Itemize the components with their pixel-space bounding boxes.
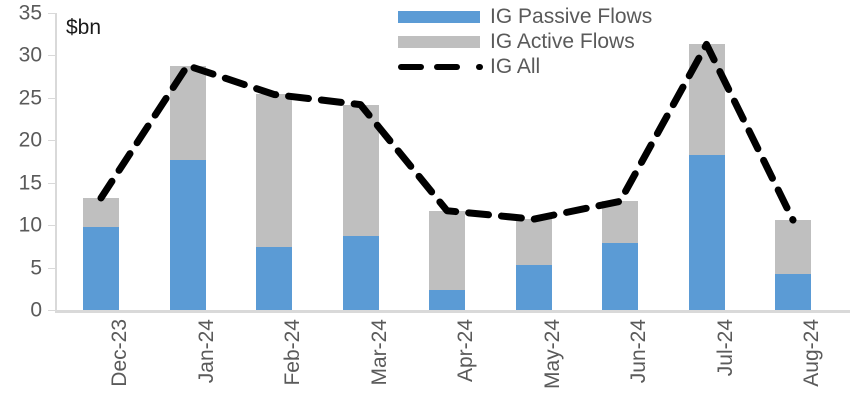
y-tick-label: 15	[0, 172, 42, 193]
chart-container: 35302520151050 $bn IG Passive FlowsIG Ac…	[0, 0, 852, 417]
bar-segment-passive[interactable]	[689, 155, 725, 310]
dash-segment	[434, 64, 460, 70]
bar-group[interactable]	[775, 13, 811, 310]
bar-segment-passive[interactable]	[256, 247, 292, 310]
y-tick-label: 10	[0, 215, 42, 236]
bar-group[interactable]	[256, 13, 292, 310]
bar-segment-active[interactable]	[343, 105, 379, 237]
bar-segment-passive[interactable]	[516, 265, 552, 310]
legend-item[interactable]: IG All	[398, 54, 698, 79]
bar-segment-active[interactable]	[429, 211, 465, 290]
y-tick-label: 0	[0, 300, 42, 321]
bar-group[interactable]	[170, 13, 206, 310]
legend-label: IG Passive Flows	[490, 6, 652, 27]
bar-segment-passive[interactable]	[429, 290, 465, 310]
bar-group[interactable]	[83, 13, 119, 310]
y-tick-label: 20	[0, 130, 42, 151]
dash-segment	[476, 64, 483, 70]
chart-legend: IG Passive FlowsIG Active FlowsIG All	[398, 4, 698, 79]
y-tick-mark	[48, 55, 55, 56]
y-tick-label: 25	[0, 87, 42, 108]
legend-swatch-dashed-line-icon	[398, 60, 480, 74]
bar-segment-active[interactable]	[775, 220, 811, 274]
y-tick-mark	[48, 98, 55, 99]
y-tick-label: 5	[0, 257, 42, 278]
bar-segment-active[interactable]	[170, 66, 206, 160]
x-tick-label: Jun-24	[628, 319, 649, 383]
legend-swatch-bar-icon	[398, 11, 480, 23]
legend-item[interactable]: IG Passive Flows	[398, 4, 698, 29]
x-tick-label: Jan-24	[196, 319, 217, 383]
x-tick-label: Mar-24	[369, 319, 390, 386]
x-tick-label: Jul-24	[715, 319, 736, 376]
y-tick-mark	[48, 140, 55, 141]
dash-segment	[398, 64, 424, 70]
bar-group[interactable]	[343, 13, 379, 310]
y-tick-mark	[48, 268, 55, 269]
x-tick-label: Aug-24	[801, 319, 822, 387]
x-tick-label: May-24	[542, 319, 563, 389]
y-tick-mark	[48, 225, 55, 226]
bar-segment-passive[interactable]	[83, 227, 119, 310]
legend-swatch-bar-icon	[398, 36, 480, 48]
x-tick-label: Apr-24	[455, 319, 476, 382]
bar-segment-passive[interactable]	[602, 243, 638, 310]
y-axis: 35302520151050	[0, 0, 42, 417]
bar-segment-passive[interactable]	[775, 274, 811, 310]
y-tick-label: 35	[0, 3, 42, 24]
bar-segment-active[interactable]	[256, 94, 292, 247]
y-tick-mark	[48, 310, 55, 311]
y-tick-mark	[48, 13, 55, 14]
y-tick-label: 30	[0, 45, 42, 66]
legend-label: IG Active Flows	[490, 31, 635, 52]
x-tick-label: Feb-24	[282, 319, 303, 386]
x-tick-label: Dec-23	[109, 319, 130, 387]
bar-segment-active[interactable]	[516, 219, 552, 265]
bar-segment-active[interactable]	[83, 198, 119, 227]
legend-label: IG All	[490, 56, 540, 77]
bar-segment-passive[interactable]	[170, 160, 206, 310]
bar-segment-passive[interactable]	[343, 236, 379, 310]
x-axis: Dec-23Jan-24Feb-24Mar-24Apr-24May-24Jun-…	[57, 313, 850, 417]
y-tick-mark	[48, 183, 55, 184]
legend-item[interactable]: IG Active Flows	[398, 29, 698, 54]
bar-segment-active[interactable]	[602, 201, 638, 243]
